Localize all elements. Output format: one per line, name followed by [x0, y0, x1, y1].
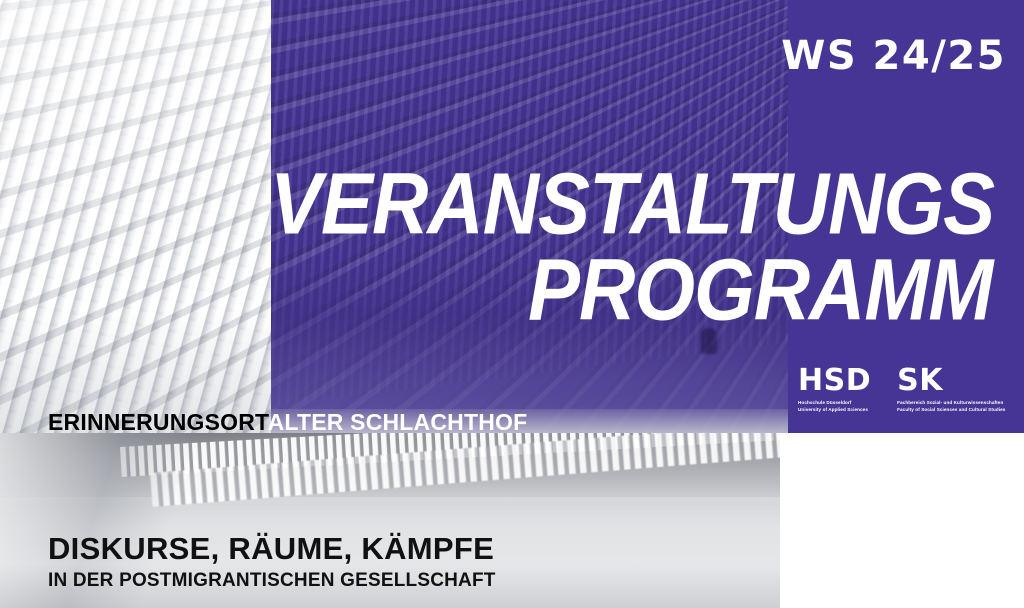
silhouette-figure [701, 328, 717, 354]
sk-subtitle-de: Fachbereich Sozial- und Kulturwissenscha… [897, 400, 1005, 407]
logo-group: HSD Hochschule Düsseldorf University of … [798, 366, 1005, 413]
venue-name: ALTER SCHLACHTHOF [268, 409, 528, 435]
hsd-wordmark: HSD [798, 366, 871, 396]
series-subtitle: IN DER POSTMIGRANTISCHEN GESELLSCHAFT [48, 570, 496, 592]
sk-subtitle: Fachbereich Sozial- und Kulturwissenscha… [897, 400, 1005, 413]
poster-canvas: WS 24/25 VERANSTALTUNGS PROGRAMM ERINNER… [0, 0, 1024, 608]
hsd-subtitle-de: Hochschule Düsseldorf [798, 400, 871, 407]
hsd-subtitle: Hochschule Düsseldorf University of Appl… [798, 400, 871, 413]
logo-sk: SK Fachbereich Sozial- und Kulturwissens… [897, 366, 1005, 413]
hsd-subtitle-en: University of Applied Sciences [798, 407, 871, 414]
sk-wordmark: SK [897, 366, 1005, 396]
page-title-line-2: PROGRAMM [0, 248, 1024, 324]
page-title-line-1: VERANSTALTUNGS [0, 162, 1024, 247]
white-panel-bottom-right [780, 433, 1024, 608]
series-title: DISKURSE, RÄUME, KÄMPFE [48, 531, 494, 567]
page-title: VERANSTALTUNGS PROGRAMM [0, 162, 1024, 323]
venue-line: ERINNERUNGSORTALTER SCHLACHTHOF [48, 409, 527, 436]
semester-badge: WS 24/25 [781, 36, 1006, 76]
venue-prefix: ERINNERUNGSORT [48, 409, 268, 435]
logo-hsd: HSD Hochschule Düsseldorf University of … [798, 366, 871, 413]
sk-subtitle-en: Faculty of Social Sciences and Cultural … [897, 407, 1005, 414]
